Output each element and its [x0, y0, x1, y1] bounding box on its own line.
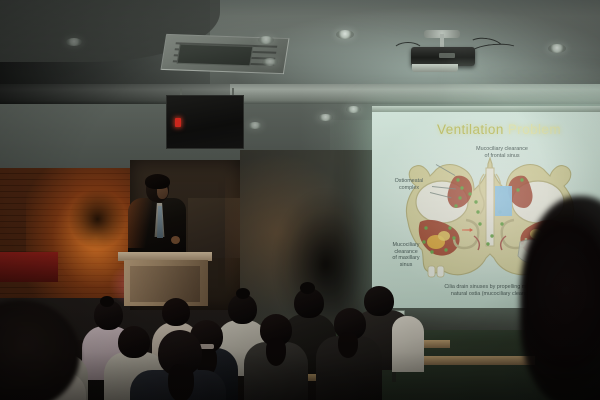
presenter-hair	[145, 174, 170, 189]
slide-title-part1: Ventilation	[437, 122, 508, 137]
slide-label-ostiomeatal-complex: Ostiomeatal complex	[384, 178, 434, 191]
podium-front-panel	[130, 266, 200, 302]
projector-brand-label	[439, 53, 455, 58]
downlight-icon	[258, 36, 274, 44]
downlight-icon	[346, 106, 361, 113]
audience-hair-bun	[100, 296, 114, 307]
downlight-icon	[248, 122, 262, 129]
slide-label-frontal-sinus: Mucociliary clearance of frontal sinus	[456, 146, 548, 159]
audience-head	[118, 326, 150, 358]
audience-hair-bun	[236, 288, 250, 299]
desk	[405, 356, 535, 365]
presenter-rim-light	[128, 198, 152, 248]
slide-title: Ventilation Problem	[414, 122, 584, 137]
downlight-icon	[336, 30, 354, 39]
audience-head	[364, 286, 394, 316]
projector-mount-pole	[440, 34, 444, 48]
downlight-icon	[548, 44, 566, 53]
slide-label-maxillary-sinus: Mucociliary clearance of maxillary sinus	[380, 242, 432, 268]
speaker-power-led-icon	[175, 118, 181, 127]
audience-ponytail	[338, 332, 358, 358]
audience-head	[162, 298, 190, 326]
projector-lens-panel	[412, 64, 458, 72]
presenter-hand	[171, 236, 180, 244]
slide-title-part2: Problem	[508, 122, 561, 137]
vent-inner-grille	[177, 44, 254, 67]
wall-shadow	[60, 175, 135, 255]
audience-ponytail	[266, 338, 286, 366]
downlight-icon	[66, 38, 82, 46]
audience-hair-bun	[300, 282, 315, 294]
blue-highlight-rectangle	[495, 186, 512, 216]
lecture-hall-photo: Ventilation Problem	[0, 0, 600, 400]
downlight-icon	[262, 58, 278, 66]
red-side-table	[0, 252, 58, 282]
audience-ponytail	[168, 364, 194, 400]
audience-shirt-sleeve	[392, 316, 424, 372]
